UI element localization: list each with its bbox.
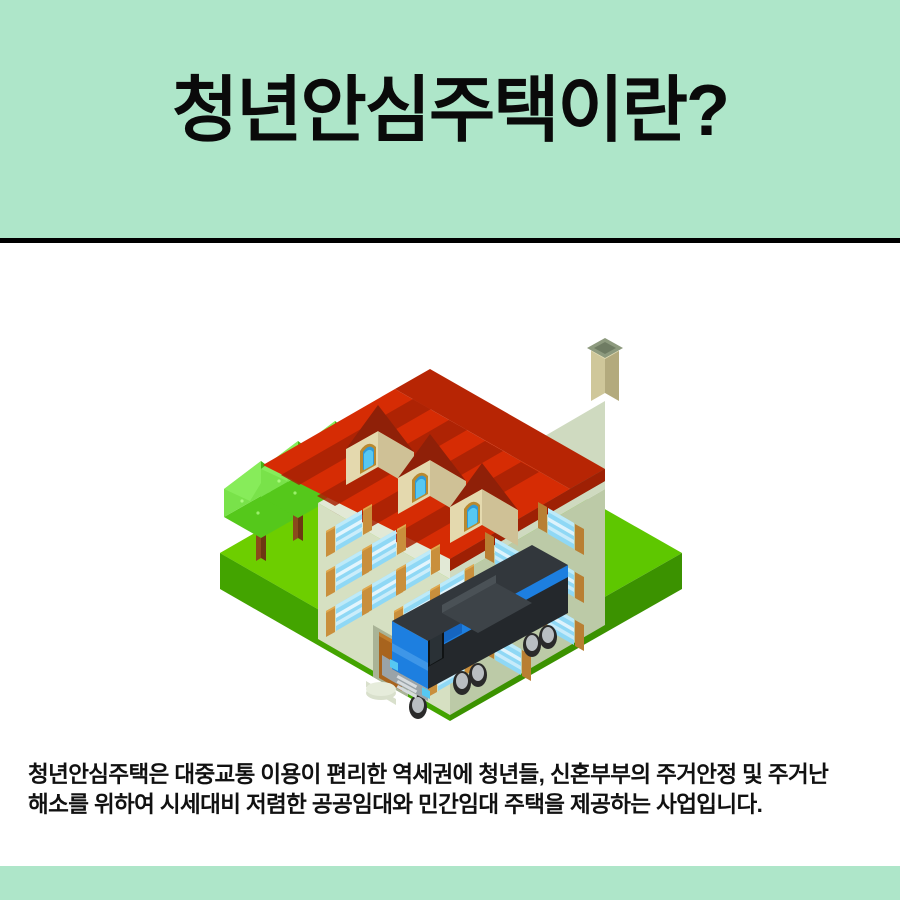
- chimney: [587, 338, 623, 401]
- description-paragraph: 청년안심주택은 대중교통 이용이 편리한 역세권에 청년들, 신혼부부의 주거안…: [28, 760, 876, 820]
- page-title: 청년안심주택이란?: [172, 75, 728, 147]
- header-banner: 청년안심주택이란?: [0, 0, 900, 238]
- footer-bar: [0, 866, 900, 900]
- info-card: 청년안심주택이란?: [0, 0, 900, 900]
- isometric-building-illustration: [150, 253, 750, 723]
- description-block: 청년안심주택은 대중교통 이용이 편리한 역세권에 청년들, 신혼부부의 주거안…: [0, 723, 900, 866]
- illustration-area: [0, 243, 900, 723]
